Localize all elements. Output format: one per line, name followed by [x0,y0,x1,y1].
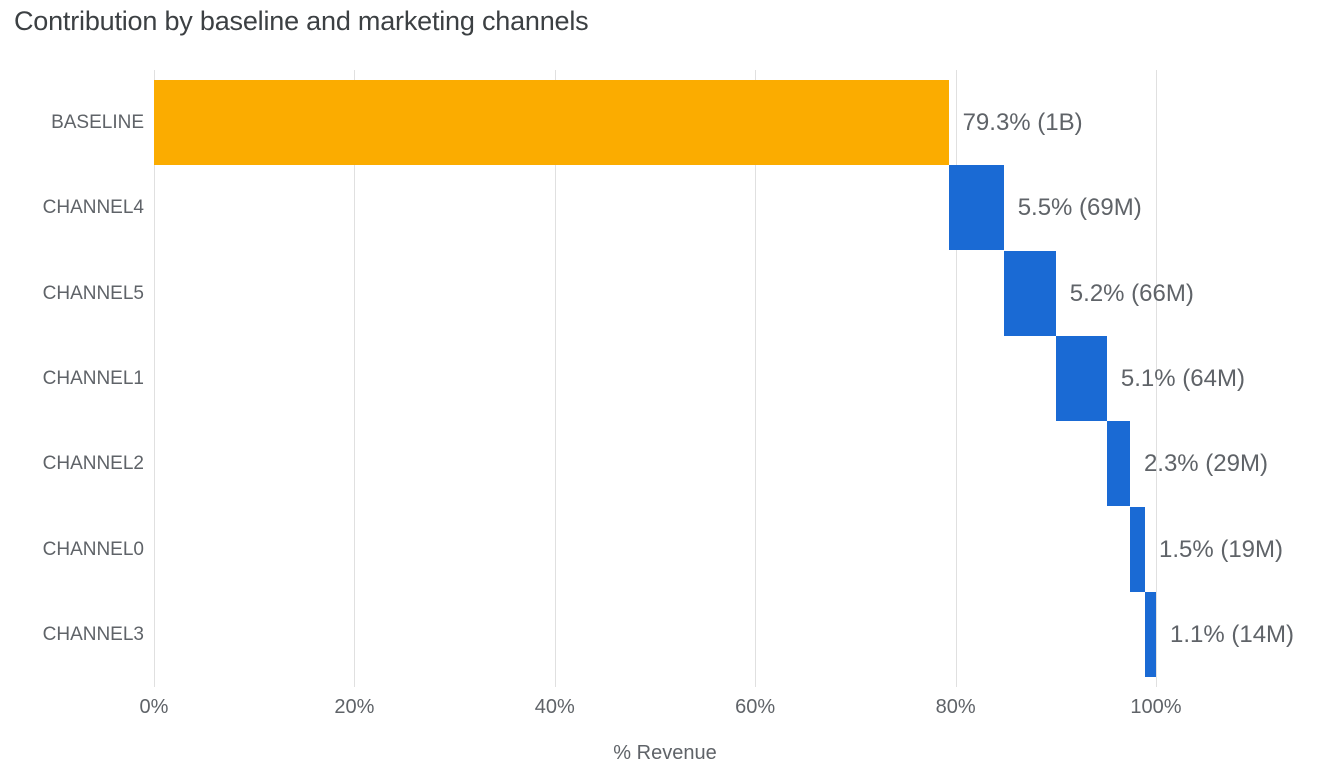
bar-baseline[interactable] [154,80,949,165]
x-tick-label: 0% [140,696,169,719]
data-label-channel2: 2.3% (29M) [1144,421,1268,506]
data-label-channel1: 5.1% (64M) [1121,336,1245,421]
bar-channel1[interactable] [1056,336,1107,421]
bar-channel4[interactable] [949,165,1004,250]
y-axis-label-baseline: BASELINE [0,80,144,165]
x-tick-label: 100% [1130,696,1181,719]
bar-channel2[interactable] [1107,421,1130,506]
x-tick-label: 80% [936,696,976,719]
x-tick-label: 40% [535,696,575,719]
data-label-channel5: 5.2% (66M) [1070,251,1194,336]
data-label-channel3: 1.1% (14M) [1170,592,1294,677]
x-tick-label: 20% [334,696,374,719]
bar-channel5[interactable] [1004,251,1056,336]
gridline-80pct [956,70,957,687]
data-label-channel0: 1.5% (19M) [1159,507,1283,592]
y-axis-label-channel3: CHANNEL3 [0,592,144,677]
y-axis-label-channel0: CHANNEL0 [0,507,144,592]
bar-channel0[interactable] [1130,507,1145,592]
y-axis-label-channel5: CHANNEL5 [0,251,144,336]
y-axis-label-channel1: CHANNEL1 [0,336,144,421]
data-label-baseline: 79.3% (1B) [963,80,1083,165]
bar-channel3[interactable] [1145,592,1156,677]
x-tick-label: 60% [735,696,775,719]
waterfall-chart: Contribution by baseline and marketing c… [0,0,1330,781]
chart-title: Contribution by baseline and marketing c… [14,6,588,37]
y-axis-label-channel2: CHANNEL2 [0,421,144,506]
x-axis-title: % Revenue [0,742,1330,765]
data-label-channel4: 5.5% (69M) [1018,165,1142,250]
y-axis-label-channel4: CHANNEL4 [0,165,144,250]
plot-area: 0%20%40%60%80%100%BASELINE79.3% (1B)CHAN… [154,70,1330,687]
